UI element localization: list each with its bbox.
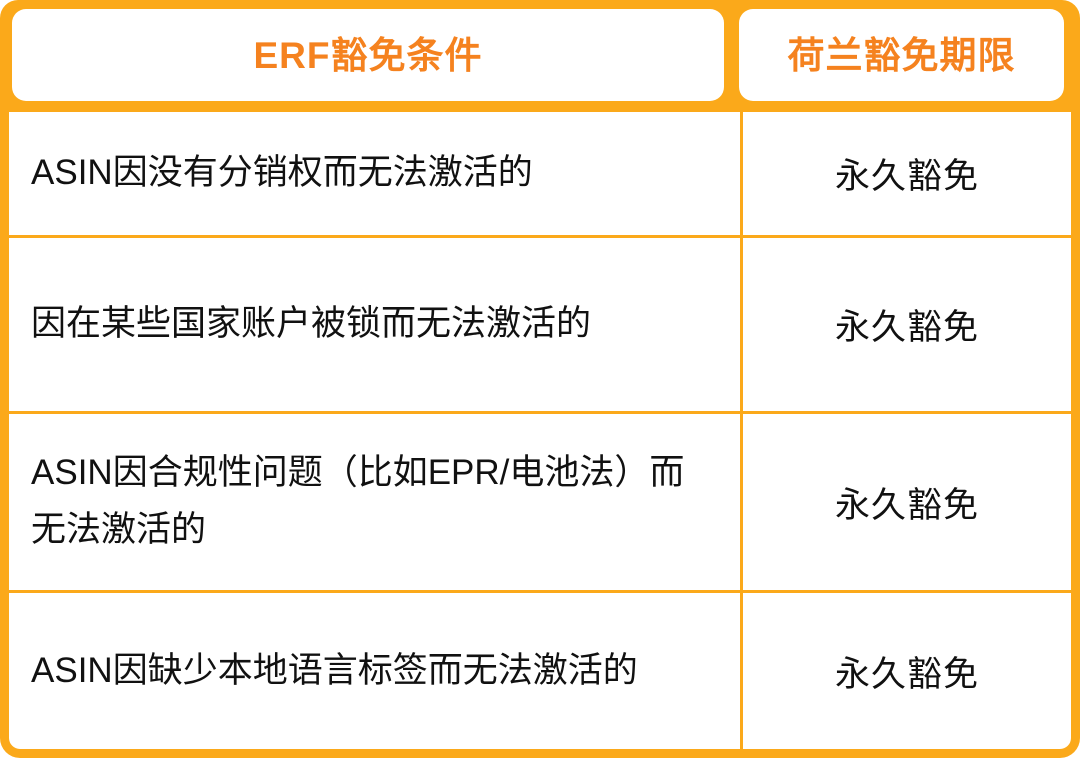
table-header-cell-condition: ERF豁免条件 (12, 9, 724, 101)
table-header-label-condition: ERF豁免条件 (254, 37, 483, 74)
table-cell-condition: 因在某些国家账户被锁而无法激活的 (9, 238, 743, 411)
table-header-cell-period: 荷兰豁免期限 (739, 9, 1064, 101)
table-cell-condition: ASIN因缺少本地语言标签而无法激活的 (9, 593, 743, 749)
table-header-label-period: 荷兰豁免期限 (788, 37, 1016, 74)
table-cell-period: 永久豁免 (743, 414, 1071, 590)
table-row: ASIN因没有分销权而无法激活的 永久豁免 (9, 112, 1071, 238)
table-row: 因在某些国家账户被锁而无法激活的 永久豁免 (9, 238, 1071, 414)
table-cell-period: 永久豁免 (743, 238, 1071, 411)
table-cell-condition: ASIN因合规性问题（比如EPR/电池法）而无法激活的 (9, 414, 743, 590)
table-cell-condition: ASIN因没有分销权而无法激活的 (9, 112, 743, 235)
table-rows: ASIN因没有分销权而无法激活的 永久豁免 因在某些国家账户被锁而无法激活的 永… (9, 112, 1071, 749)
table-row: ASIN因缺少本地语言标签而无法激活的 永久豁免 (9, 593, 1071, 749)
condition-text: ASIN因没有分销权而无法激活的 (31, 145, 533, 202)
period-text: 永久豁免 (835, 299, 979, 350)
condition-text: ASIN因合规性问题（比如EPR/电池法）而无法激活的 (31, 445, 716, 558)
condition-text: ASIN因缺少本地语言标签而无法激活的 (31, 643, 638, 700)
table-row: ASIN因合规性问题（比如EPR/电池法）而无法激活的 永久豁免 (9, 414, 1071, 593)
period-text: 永久豁免 (835, 646, 979, 697)
table-body: ASIN因没有分销权而无法激活的 永久豁免 因在某些国家账户被锁而无法激活的 永… (0, 104, 1080, 758)
period-text: 永久豁免 (835, 148, 979, 199)
exemption-table: ERF豁免条件 荷兰豁免期限 ASIN因没有分销权而无法激活的 永久豁免 因在某… (0, 0, 1080, 758)
period-text: 永久豁免 (835, 477, 979, 528)
table-cell-period: 永久豁免 (743, 593, 1071, 749)
table-cell-period: 永久豁免 (743, 112, 1071, 235)
condition-text: 因在某些国家账户被锁而无法激活的 (31, 296, 591, 353)
table-header-band: ERF豁免条件 荷兰豁免期限 (0, 0, 1080, 112)
